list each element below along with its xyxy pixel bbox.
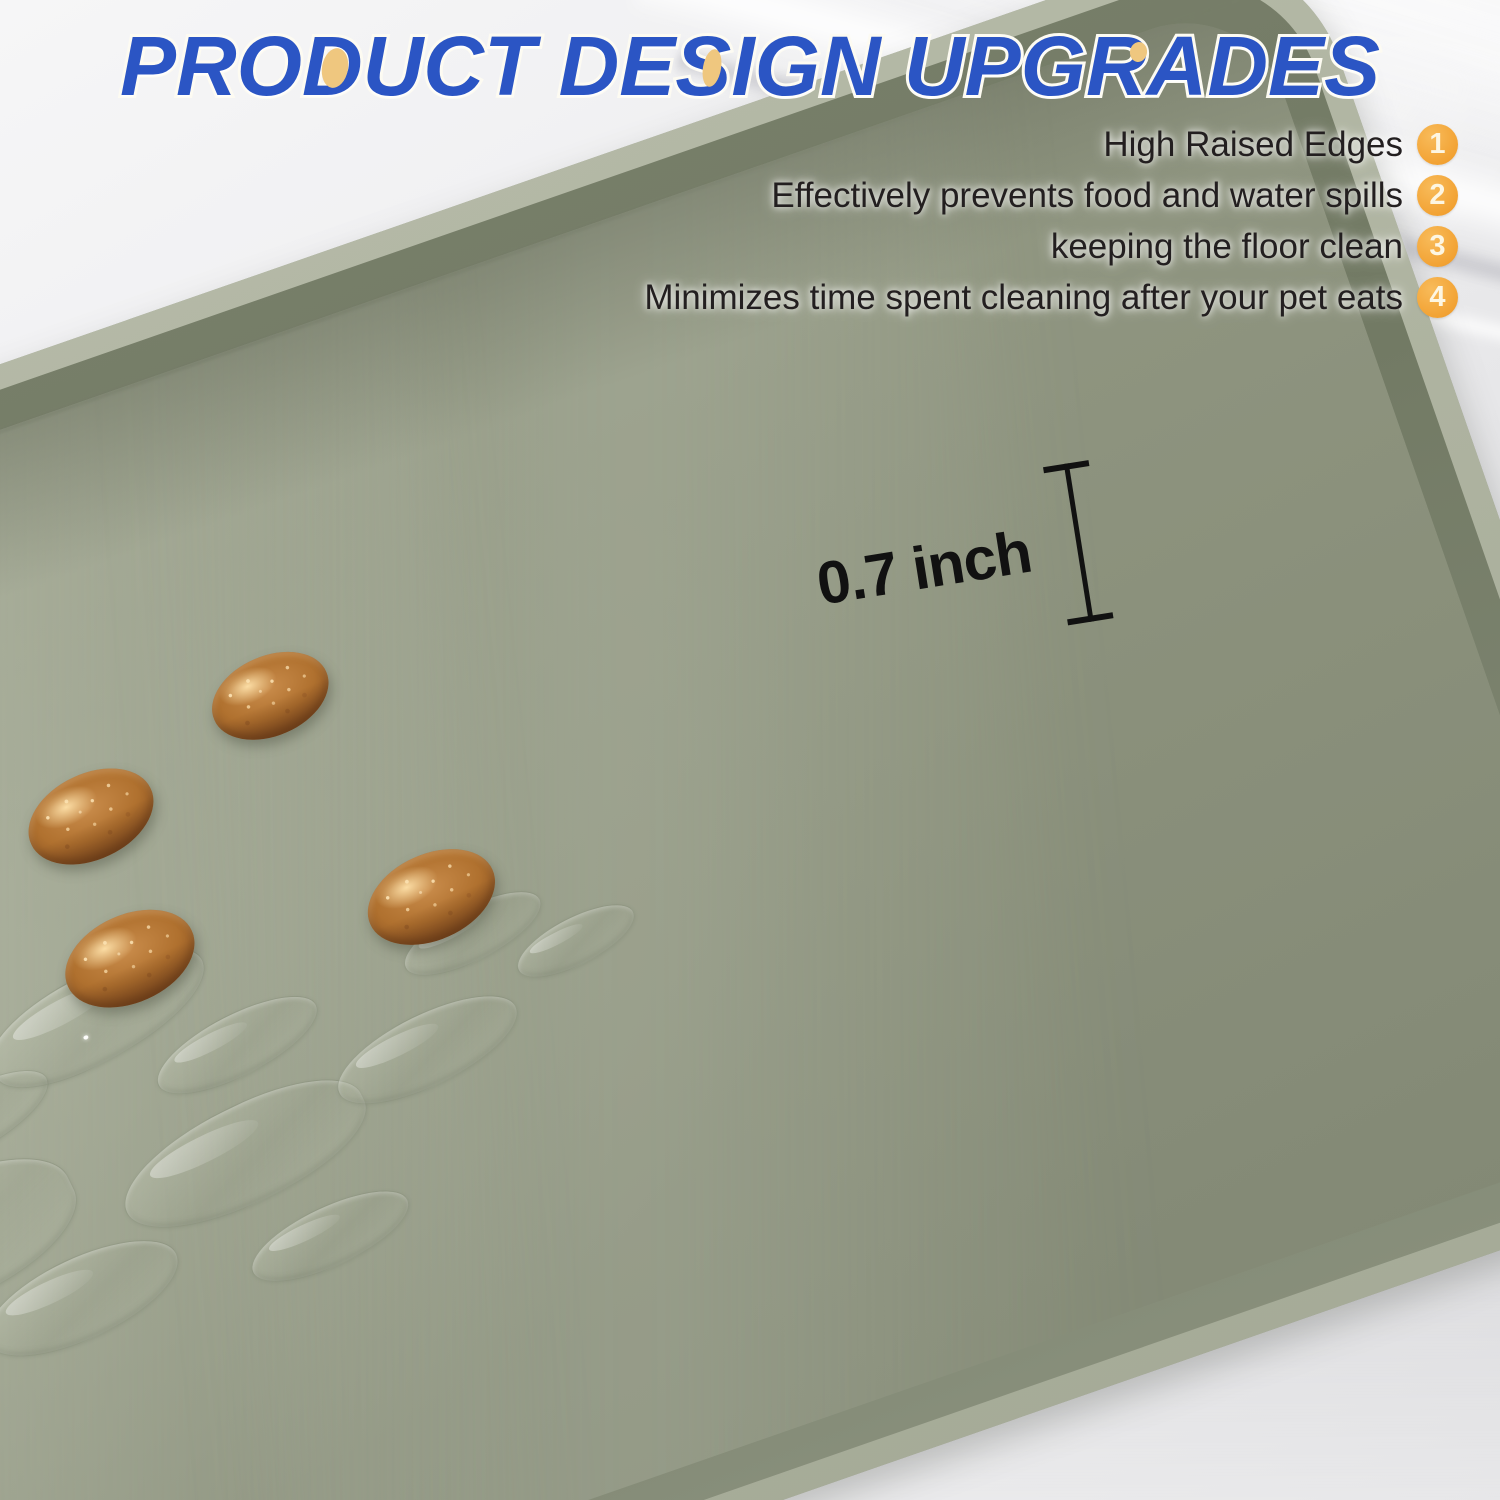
headline-container: PRODUCT DESIGN UPGRADES	[0, 18, 1500, 115]
feature-list: High Raised Edges 1 Effectively prevents…	[644, 124, 1458, 318]
product-marketing-image: 0.7 inch PRODUCT DESIGN UPGRADES High Ra…	[0, 0, 1500, 1500]
feature-text: Minimizes time spent cleaning after your…	[644, 278, 1403, 318]
feature-item: Minimizes time spent cleaning after your…	[644, 277, 1458, 318]
feature-number-badge: 3	[1417, 226, 1458, 267]
feature-item: Effectively prevents food and water spil…	[771, 175, 1458, 216]
feature-text: High Raised Edges	[1103, 125, 1403, 165]
dimension-label: 0.7 inch	[812, 516, 1036, 618]
dimension-stem	[1064, 463, 1094, 622]
feature-item: keeping the floor clean 3	[1051, 226, 1458, 267]
feature-number-badge: 2	[1417, 175, 1458, 216]
feature-text: keeping the floor clean	[1051, 227, 1403, 267]
page-title: PRODUCT DESIGN UPGRADES	[120, 18, 1380, 115]
feature-number-badge: 4	[1417, 277, 1458, 318]
feature-number-badge: 1	[1417, 124, 1458, 165]
feature-item: High Raised Edges 1	[1103, 124, 1458, 165]
feature-text: Effectively prevents food and water spil…	[771, 176, 1403, 216]
